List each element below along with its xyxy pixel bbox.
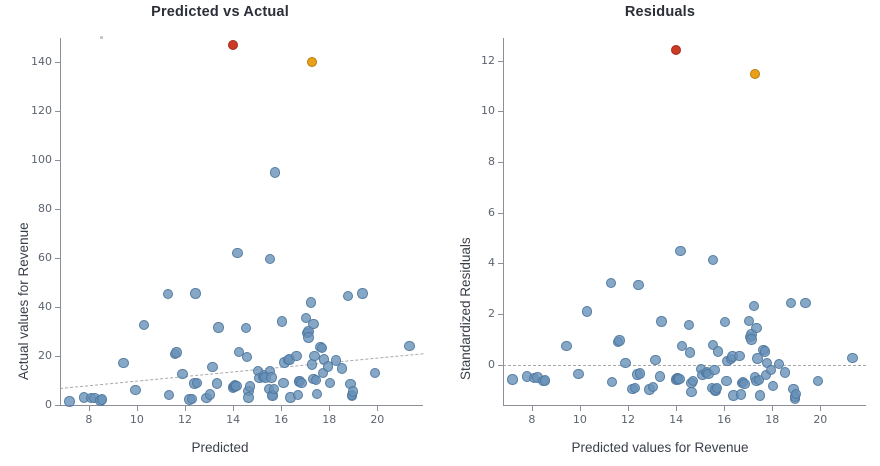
y-axis-tick — [498, 213, 503, 214]
data-point[interactable] — [312, 389, 322, 399]
x-axis-tick — [281, 406, 282, 411]
y-axis-tick-label: 0 — [14, 398, 52, 411]
y-axis-tick-label: 100 — [14, 153, 52, 166]
x-axis-tick-label: 8 — [512, 413, 552, 426]
data-point[interactable] — [187, 394, 197, 404]
data-point[interactable] — [270, 167, 280, 177]
y-axis-tick — [498, 61, 503, 62]
x-axis-label-right: Predicted values for Revenue — [440, 440, 880, 455]
x-axis-tick — [724, 406, 725, 411]
data-point[interactable] — [633, 280, 643, 290]
data-point[interactable] — [296, 378, 306, 388]
y-axis-tick-label: 12 — [457, 54, 495, 67]
data-point[interactable] — [64, 396, 74, 406]
y-axis-tick — [55, 258, 60, 259]
data-point[interactable] — [370, 368, 380, 378]
chart-panel-predicted-vs-actual: Predicted vs Actual 02040608010012014081… — [0, 0, 440, 466]
data-point[interactable] — [768, 381, 778, 391]
data-point[interactable] — [243, 392, 253, 402]
y-axis-tick — [55, 160, 60, 161]
x-axis-tick — [820, 406, 821, 411]
data-point[interactable] — [721, 376, 731, 386]
data-point[interactable] — [650, 355, 660, 365]
data-point[interactable] — [709, 365, 719, 375]
y-axis-tick-label: 6 — [457, 206, 495, 219]
data-point[interactable] — [118, 358, 128, 368]
x-axis-tick — [676, 406, 677, 411]
data-point[interactable] — [734, 351, 744, 361]
data-point[interactable] — [656, 316, 666, 326]
data-point[interactable] — [655, 371, 665, 381]
data-point[interactable] — [582, 306, 592, 316]
y-axis-tick-label: 140 — [14, 55, 52, 68]
data-point[interactable] — [242, 352, 252, 362]
data-point[interactable] — [269, 384, 279, 394]
data-point[interactable] — [177, 369, 187, 379]
data-point[interactable] — [755, 390, 765, 400]
data-point[interactable] — [736, 389, 746, 399]
y-axis-tick — [498, 162, 503, 163]
x-axis-tick — [580, 406, 581, 411]
x-axis-tick-label: 16 — [261, 413, 301, 426]
data-point[interactable] — [164, 390, 174, 400]
data-point[interactable] — [675, 246, 685, 256]
data-point[interactable] — [713, 346, 723, 356]
x-axis-tick — [628, 406, 629, 411]
x-axis-label-left: Predicted — [0, 440, 440, 455]
y-axis-label-left: Actual values for Revenue — [16, 222, 31, 380]
data-point[interactable] — [780, 367, 790, 377]
data-point[interactable] — [277, 316, 287, 326]
data-point[interactable] — [266, 372, 276, 382]
data-point[interactable] — [614, 335, 624, 345]
y-axis-spine — [503, 38, 504, 405]
data-point[interactable] — [800, 298, 810, 308]
data-point[interactable] — [190, 288, 200, 298]
data-point[interactable] — [231, 381, 241, 391]
data-point[interactable] — [746, 334, 756, 344]
data-point[interactable] — [720, 317, 730, 327]
y-axis-tick — [55, 62, 60, 63]
data-point[interactable] — [303, 332, 313, 342]
data-point-outlier[interactable] — [228, 40, 238, 50]
x-axis-tick-label: 8 — [69, 413, 109, 426]
data-point[interactable] — [207, 362, 217, 372]
data-point[interactable] — [540, 375, 550, 385]
data-point[interactable] — [507, 374, 517, 384]
data-point[interactable] — [278, 378, 288, 388]
data-point[interactable] — [130, 385, 140, 395]
data-point[interactable] — [712, 383, 722, 393]
x-axis-tick — [532, 406, 533, 411]
data-point[interactable] — [635, 368, 645, 378]
x-axis-tick-label: 10 — [117, 413, 157, 426]
data-point[interactable] — [786, 298, 796, 308]
y-axis-tick-label: 10 — [457, 104, 495, 117]
data-point[interactable] — [749, 301, 759, 311]
data-point[interactable] — [245, 381, 255, 391]
data-point[interactable] — [293, 390, 303, 400]
y-axis-tick — [498, 314, 503, 315]
data-point[interactable] — [241, 323, 251, 333]
data-point[interactable] — [760, 346, 770, 356]
y-axis-tick — [498, 111, 503, 112]
y-axis-tick — [498, 263, 503, 264]
y-axis-spine — [60, 38, 61, 405]
x-axis-tick — [185, 406, 186, 411]
data-point[interactable] — [813, 376, 823, 386]
data-point[interactable] — [307, 359, 317, 369]
x-axis-tick — [329, 406, 330, 411]
chart-panel-residuals: Residuals 0246810128101214161820 Standar… — [440, 0, 880, 466]
y-axis-label-right: Standardized Residuals — [458, 237, 473, 380]
plot-area-left: 0204060801001201408101214161820 — [0, 0, 440, 466]
data-point[interactable] — [308, 319, 318, 329]
data-point[interactable] — [139, 320, 149, 330]
data-point[interactable] — [620, 358, 630, 368]
x-axis-tick-label: 20 — [357, 413, 397, 426]
data-point[interactable] — [192, 378, 202, 388]
x-axis-tick — [137, 406, 138, 411]
x-axis-tick-label: 10 — [560, 413, 600, 426]
data-point[interactable] — [212, 378, 222, 388]
figure-canvas: Predicted vs Actual 02040608010012014081… — [0, 0, 880, 466]
data-point[interactable] — [205, 389, 215, 399]
x-axis-tick-label: 12 — [608, 413, 648, 426]
data-point[interactable] — [606, 278, 616, 288]
data-point[interactable] — [325, 378, 335, 388]
x-axis-tick-label: 14 — [656, 413, 696, 426]
data-point[interactable] — [171, 347, 181, 357]
y-axis-tick — [55, 356, 60, 357]
x-axis-spine — [503, 405, 866, 406]
data-point[interactable] — [291, 351, 301, 361]
y-axis-tick — [55, 405, 60, 406]
data-point[interactable] — [357, 288, 367, 298]
data-point[interactable] — [686, 387, 696, 397]
data-point[interactable] — [265, 254, 275, 264]
data-point-outlier[interactable] — [671, 45, 681, 55]
data-point[interactable] — [674, 374, 684, 384]
y-axis-tick — [55, 307, 60, 308]
x-axis-tick-label: 16 — [704, 413, 744, 426]
data-point[interactable] — [317, 343, 327, 353]
data-point[interactable] — [343, 291, 353, 301]
data-point[interactable] — [684, 320, 694, 330]
data-point[interactable] — [573, 369, 583, 379]
x-axis-spine — [60, 405, 423, 406]
x-axis-tick — [89, 406, 90, 411]
x-axis-tick — [233, 406, 234, 411]
data-point[interactable] — [337, 363, 347, 373]
plot-area-right: 0246810128101214161820 — [440, 0, 880, 466]
data-point[interactable] — [607, 377, 617, 387]
data-point[interactable] — [163, 289, 173, 299]
y-axis-tick-label: 8 — [457, 155, 495, 168]
y-axis-tick — [55, 209, 60, 210]
y-axis-tick-label: 120 — [14, 104, 52, 117]
data-point[interactable] — [630, 383, 640, 393]
x-axis-tick-label: 14 — [213, 413, 253, 426]
data-point[interactable] — [561, 341, 571, 351]
data-point[interactable] — [306, 297, 316, 307]
data-point[interactable] — [213, 322, 223, 332]
data-point[interactable] — [751, 323, 761, 333]
data-point[interactable] — [404, 341, 414, 351]
x-axis-tick-label: 12 — [165, 413, 205, 426]
x-axis-tick — [377, 406, 378, 411]
x-axis-tick-label: 18 — [752, 413, 792, 426]
data-point[interactable] — [232, 248, 242, 258]
data-point[interactable] — [648, 382, 658, 392]
y-axis-tick-label: 80 — [14, 202, 52, 215]
data-point[interactable] — [685, 347, 695, 357]
data-point[interactable] — [97, 394, 107, 404]
data-point[interactable] — [739, 379, 749, 389]
zero-reference-line — [503, 365, 866, 366]
x-axis-tick-label: 18 — [309, 413, 349, 426]
x-axis-tick — [772, 406, 773, 411]
data-point[interactable] — [847, 353, 857, 363]
data-point[interactable] — [348, 386, 358, 396]
y-axis-tick — [55, 111, 60, 112]
data-point-outlier[interactable] — [750, 69, 760, 79]
data-point[interactable] — [708, 255, 718, 265]
x-axis-tick-label: 20 — [800, 413, 840, 426]
data-point-outlier[interactable] — [307, 57, 317, 67]
